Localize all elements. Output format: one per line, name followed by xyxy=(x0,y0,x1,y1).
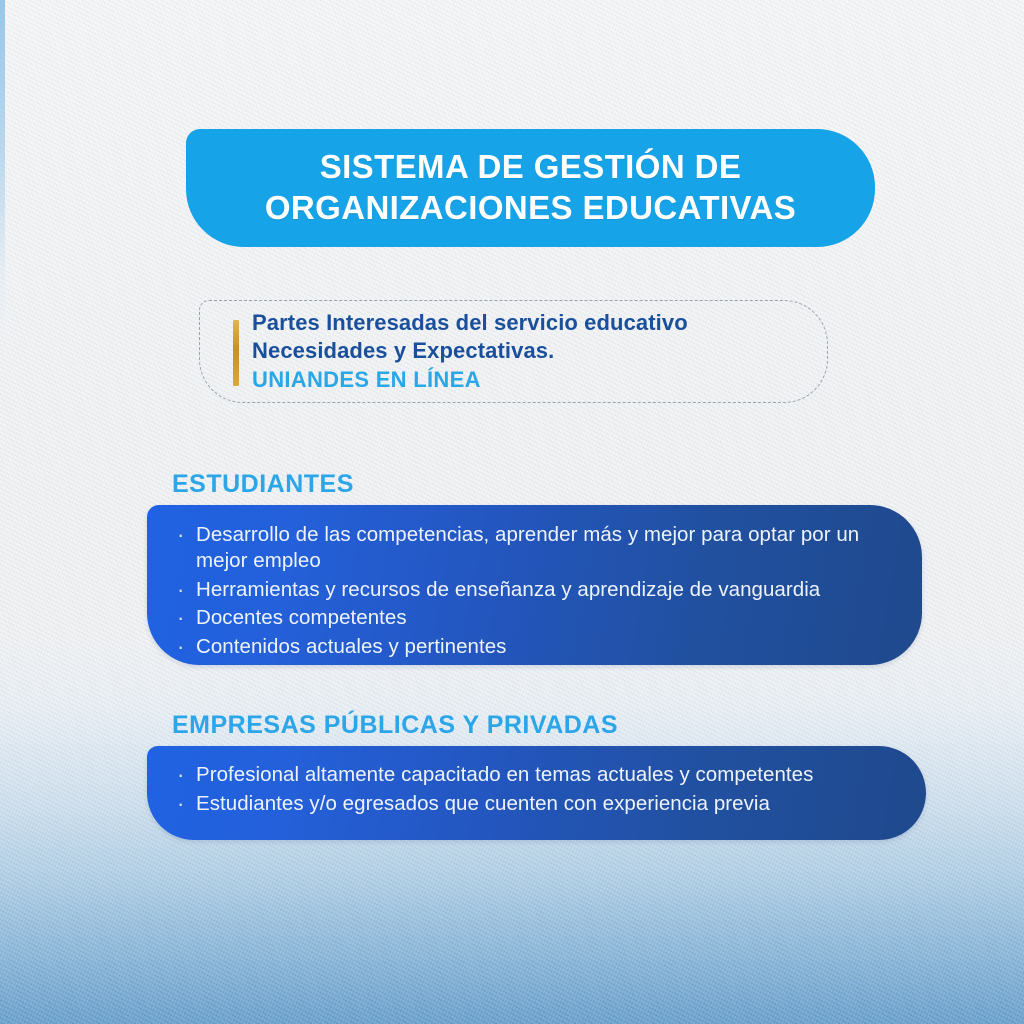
bullet-list-empresas: Profesional altamente capacitado en tema… xyxy=(173,762,892,817)
title-banner: SISTEMA DE GESTIÓN DE ORGANIZACIONES EDU… xyxy=(186,129,875,247)
subtitle-text-group: Partes Interesadas del servicio educativ… xyxy=(252,309,708,393)
list-item: Estudiantes y/o egresados que cuenten co… xyxy=(173,791,892,817)
list-item: Desarrollo de las competencias, aprender… xyxy=(173,522,888,574)
subtitle-panel: Partes Interesadas del servicio educativ… xyxy=(199,300,828,403)
subtitle-line-3: UNIANDES EN LÍNEA xyxy=(252,366,688,394)
infographic-stage: SISTEMA DE GESTIÓN DE ORGANIZACIONES EDU… xyxy=(0,0,1024,1024)
section-heading-estudiantes: ESTUDIANTES xyxy=(172,470,354,499)
list-item: Profesional altamente capacitado en tema… xyxy=(173,762,892,788)
content-card-empresas: Profesional altamente capacitado en tema… xyxy=(147,746,926,840)
list-item: Contenidos actuales y pertinentes xyxy=(173,634,888,660)
content-card-estudiantes: Desarrollo de las competencias, aprender… xyxy=(147,505,922,665)
subtitle-line-2: Necesidades y Expectativas. xyxy=(252,337,688,365)
page-title: SISTEMA DE GESTIÓN DE ORGANIZACIONES EDU… xyxy=(265,147,796,229)
page-title-line-2: ORGANIZACIONES EDUCATIVAS xyxy=(265,189,796,226)
subtitle-line-1: Partes Interesadas del servicio educativ… xyxy=(252,309,688,337)
gold-accent-bar xyxy=(233,320,239,386)
list-item: Herramientas y recursos de enseñanza y a… xyxy=(173,577,888,603)
list-item: Docentes competentes xyxy=(173,605,888,631)
section-heading-empresas: EMPRESAS PÚBLICAS Y PRIVADAS xyxy=(172,711,618,740)
bullet-list-estudiantes: Desarrollo de las competencias, aprender… xyxy=(173,522,888,660)
page-title-line-1: SISTEMA DE GESTIÓN DE xyxy=(320,148,742,185)
